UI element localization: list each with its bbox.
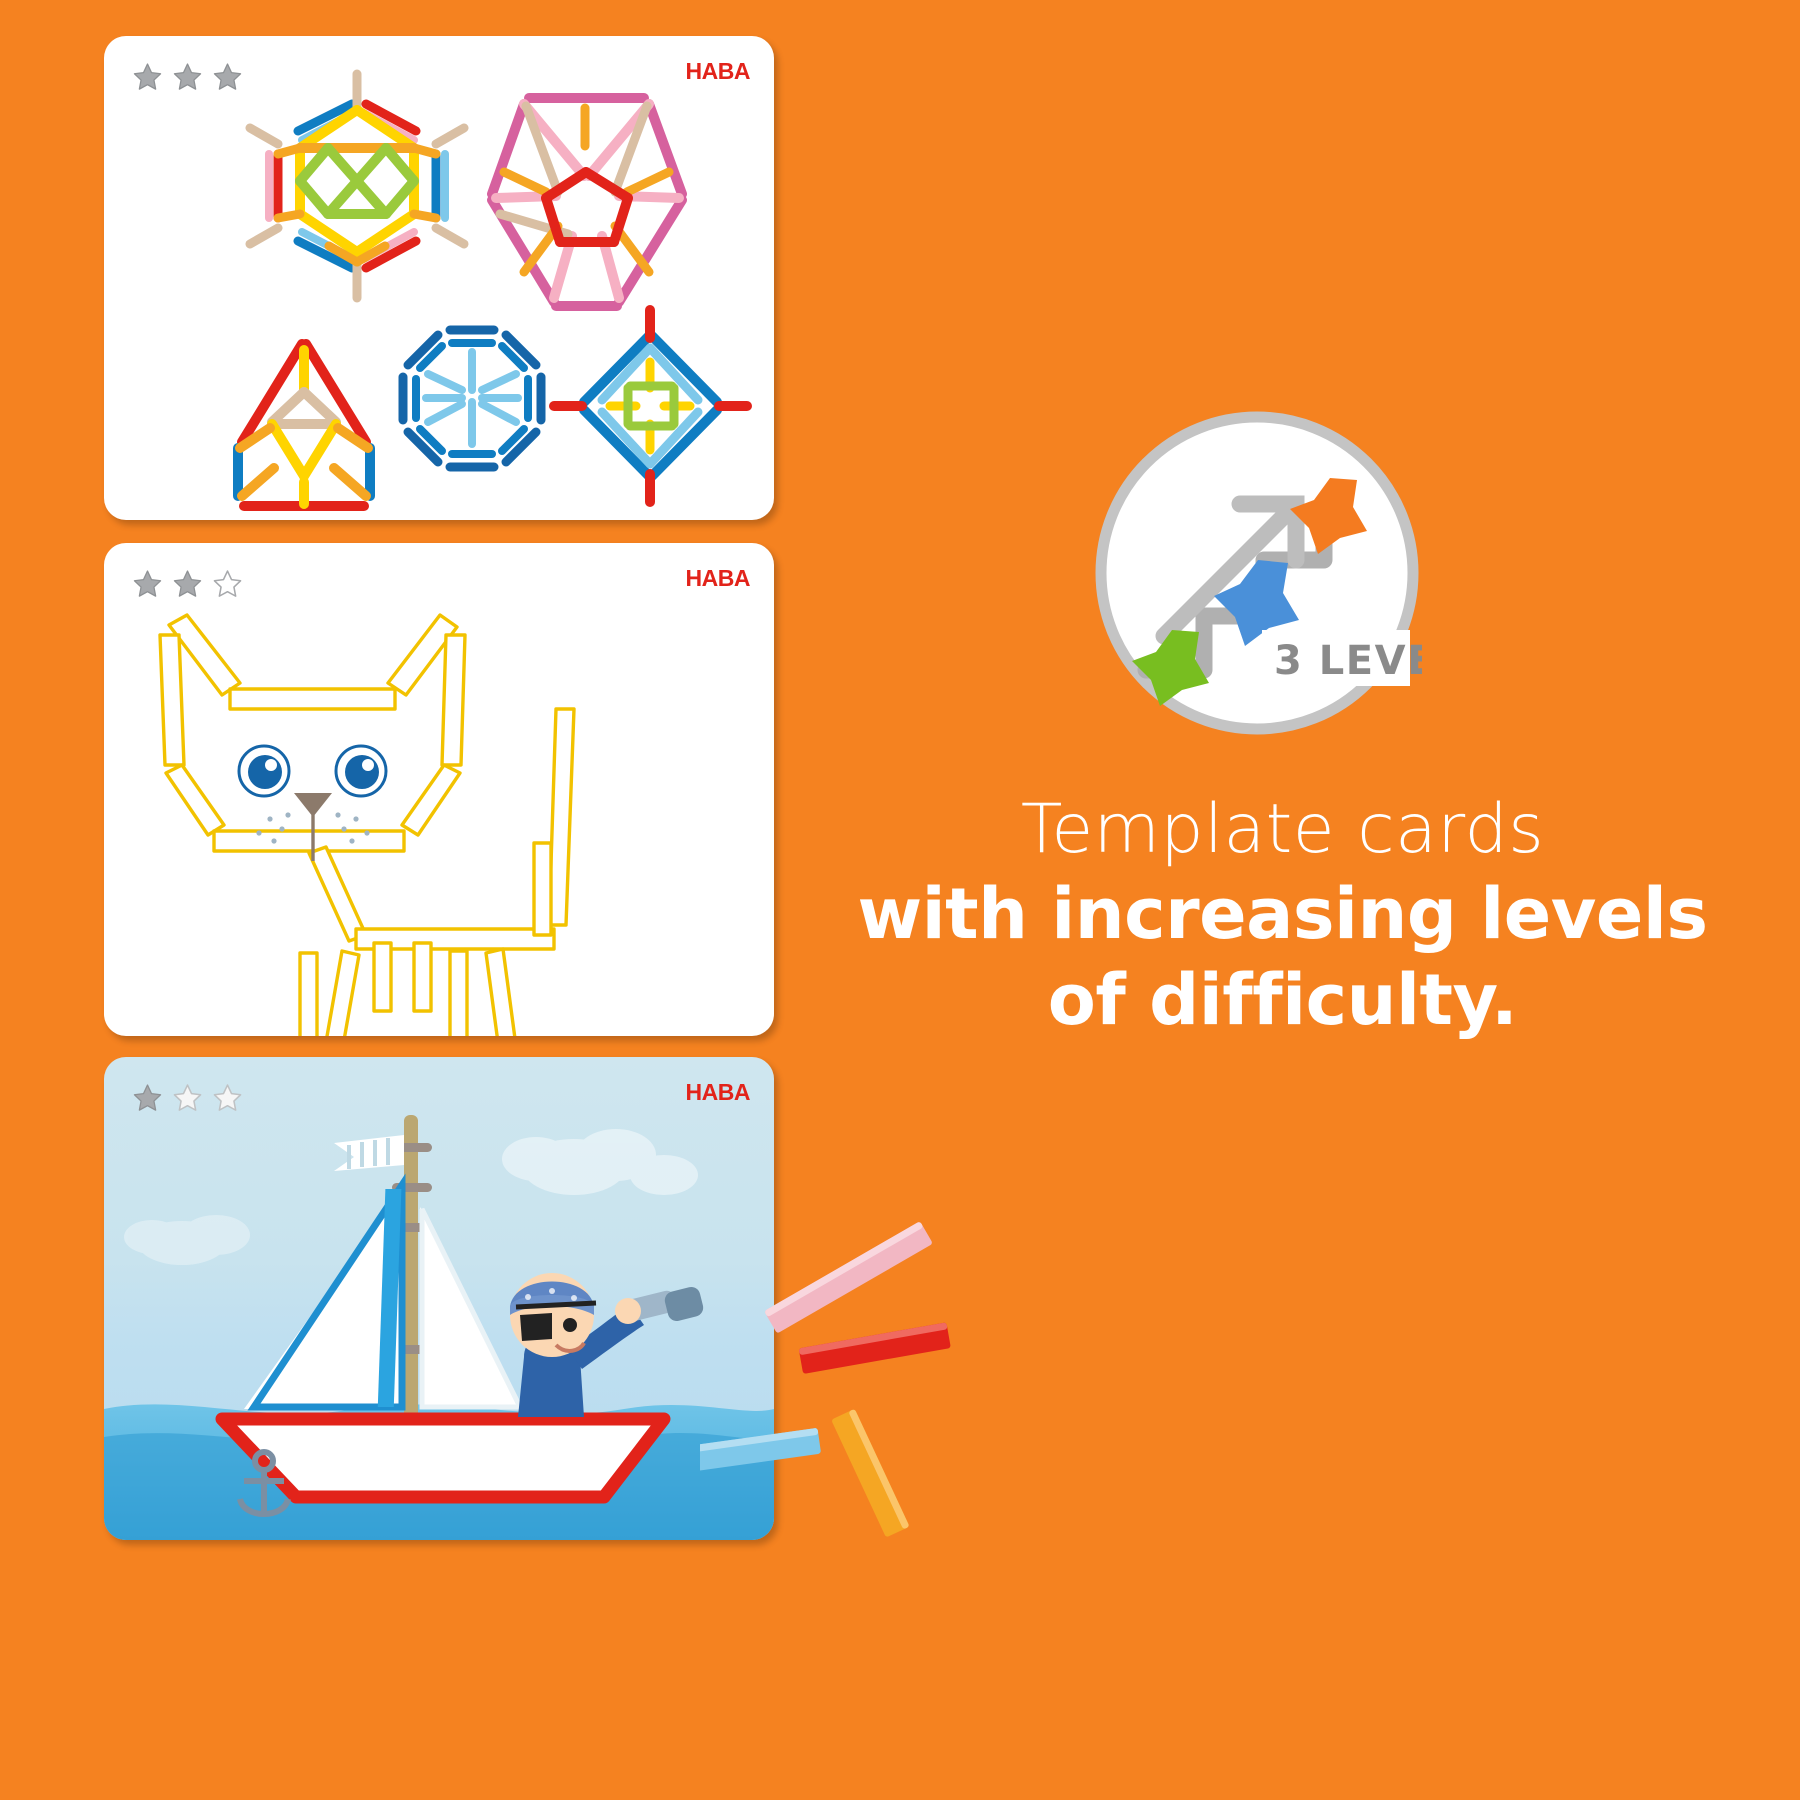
template-card-cat[interactable]: HABA [104, 543, 774, 1036]
headline-line-3: of difficulty. [830, 960, 1735, 1042]
template-card-sailboat[interactable]: HABA [104, 1057, 774, 1540]
loose-stick-orange [831, 1409, 910, 1538]
cloud-shape [124, 1215, 250, 1265]
loose-sticks-group [700, 1160, 1160, 1560]
headline-block: Template cards with increasing levels of… [830, 790, 1735, 1042]
headline-line-2: with increasing levels [830, 874, 1735, 956]
pennant-flag [334, 1135, 404, 1171]
loose-stick-red [799, 1322, 951, 1374]
badge-label: 3 LEVELS [1274, 638, 1422, 684]
loose-stick-lightblue [700, 1428, 821, 1472]
pirate-character [510, 1273, 705, 1417]
three-levels-badge: 3 LEVELS [1092, 408, 1422, 738]
sailboat-scene-illustration [104, 1057, 774, 1540]
cloud-shape [502, 1129, 698, 1195]
geometric-pattern-illustration [104, 36, 774, 520]
cat-outline-illustration [104, 543, 774, 1036]
headline-line-1: Template cards [830, 790, 1735, 870]
template-card-geometric[interactable]: HABA [104, 36, 774, 520]
marketing-image: HABA [0, 0, 1800, 1800]
loose-stick-pink [764, 1221, 933, 1334]
